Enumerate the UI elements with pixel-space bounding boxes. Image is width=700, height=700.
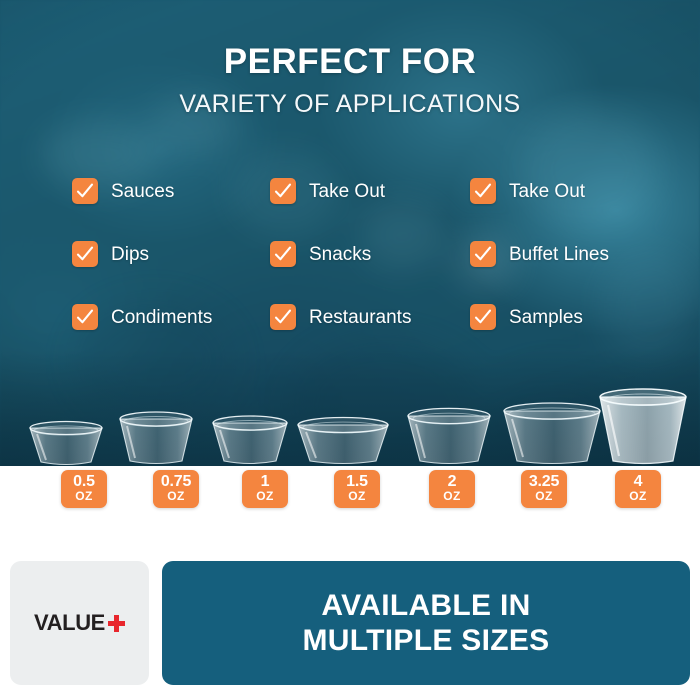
cta-text: AVAILABLE IN MULTIPLE SIZES (303, 588, 550, 658)
size-unit: OZ (341, 490, 373, 503)
size-unit: OZ (160, 490, 192, 503)
size-badge: 2 OZ (429, 470, 475, 508)
size-amount: 1 (249, 474, 281, 490)
size-unit: OZ (68, 490, 100, 503)
brand-logo-panel: VALUE (10, 561, 149, 685)
size-badge: 1 OZ (242, 470, 288, 508)
size-badge: 0.75 OZ (153, 470, 199, 508)
size-badge: 3.25 OZ (521, 470, 567, 508)
size-unit: OZ (622, 490, 654, 503)
size-badge: 4 OZ (615, 470, 661, 508)
brand-wordmark: VALUE (34, 610, 125, 636)
size-amount: 1.5 (341, 474, 373, 490)
plus-icon (108, 615, 125, 632)
size-unit: OZ (249, 490, 281, 503)
size-amount: 0.75 (160, 474, 192, 490)
size-amount: 2 (436, 474, 468, 490)
cta-banner: AVAILABLE IN MULTIPLE SIZES (162, 561, 690, 685)
footer-section: VALUE AVAILABLE IN MULTIPLE SIZES (0, 500, 700, 700)
size-amount: 0.5 (68, 474, 100, 490)
brand-name: VALUE (34, 610, 105, 636)
size-amount: 3.25 (528, 474, 560, 490)
size-badge: 1.5 OZ (334, 470, 380, 508)
size-badge-group: 0.5 OZ 0.75 OZ 1 OZ 1.5 OZ 2 OZ 3.25 OZ … (0, 0, 700, 520)
size-unit: OZ (528, 490, 560, 503)
cta-line-2: MULTIPLE SIZES (303, 623, 550, 658)
size-badge: 0.5 OZ (61, 470, 107, 508)
size-amount: 4 (622, 474, 654, 490)
cta-line-1: AVAILABLE IN (321, 589, 530, 622)
size-unit: OZ (436, 490, 468, 503)
